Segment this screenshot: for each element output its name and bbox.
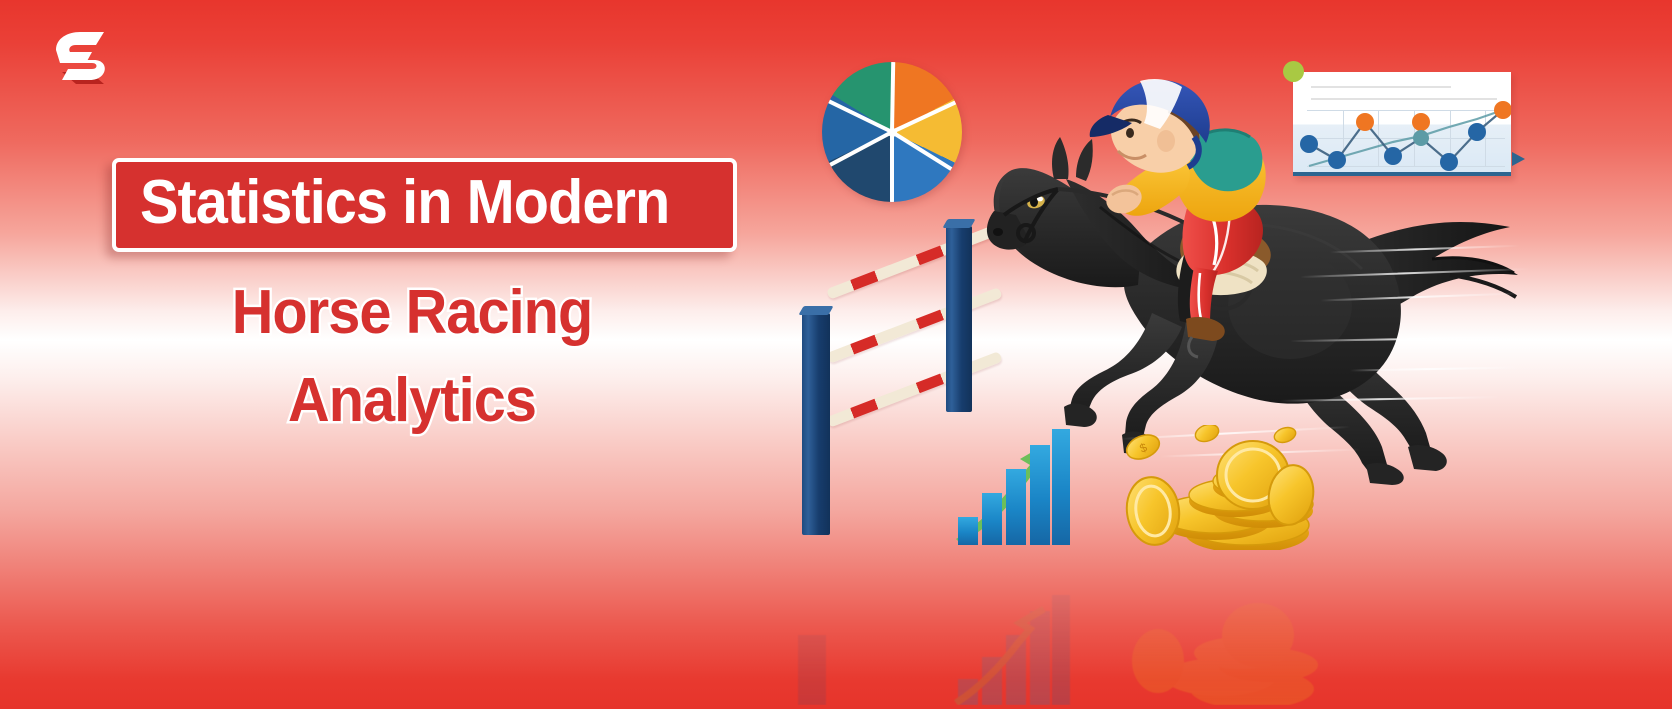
floor-reflection [780,545,1560,705]
bar-1 [958,517,978,545]
bar-2 [982,493,1002,545]
headline-block: Statistics in Modern Horse Racing Analyt… [112,158,752,432]
hurdle-rail-middle [826,287,1003,364]
reflection-shapes [780,545,1560,705]
hurdle-post-cap [942,219,975,228]
pie-divider [890,132,894,202]
pie-center-hub [888,128,897,137]
brand-logo-s-mark [46,26,116,92]
flying-coin-1: $ [1123,430,1163,463]
hurdle-post-front [802,313,830,535]
horse-and-jockey-illustration [980,75,1540,485]
page-title-line-1: Statistics in Modern [140,172,669,234]
hurdle-rail-top [826,223,1003,300]
gold-coins-svg: $ [1095,425,1320,550]
coin-pile [1123,441,1318,550]
bar-3 [1006,469,1026,545]
growth-bar-chart [952,425,1072,545]
bar-5 [1052,429,1070,545]
bar-4 [1030,445,1050,545]
title-red-box: Statistics in Modern [112,158,737,252]
page-title-line-2-wrap: Horse Racing [112,282,752,344]
brand-logo[interactable] [46,26,116,92]
hurdle-post-cap [798,306,833,315]
page-title-line-3-wrap: Analytics [112,370,752,432]
page-title-line-2: Horse Racing [133,282,691,344]
pie-chart-illustration [822,62,962,202]
hurdle-post-back [946,226,972,412]
promotional-banner: Statistics in Modern Horse Racing Analyt… [0,0,1672,709]
flying-coin-2 [1193,425,1221,445]
gold-coins-stack: $ [1095,425,1320,550]
racehorse-jockey-svg [980,75,1540,485]
hurdle-rail-bottom [826,351,1003,428]
page-title-line-3: Analytics [133,370,691,432]
flying-coin-3 [1272,425,1297,445]
